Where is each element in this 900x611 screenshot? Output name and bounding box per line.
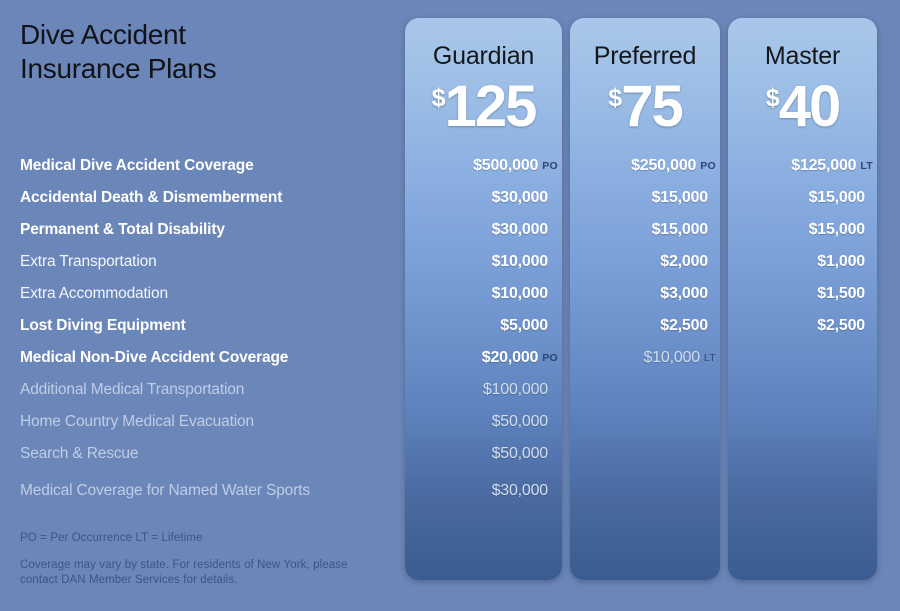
benefit-value-suffix: LT (704, 352, 716, 364)
footnote-legend: PO = Per Occurrence LT = Lifetime (20, 532, 202, 544)
benefit-label: Extra Accommodation (0, 285, 405, 303)
benefit-value: $2,500 (728, 317, 877, 335)
benefit-label: Lost Diving Equipment (0, 317, 405, 335)
benefit-value-amount: $15,000 (652, 189, 708, 206)
benefit-value-amount: $30,000 (492, 221, 548, 238)
plan-name-guardian: Guardian (405, 42, 562, 71)
benefit-value-amount: $2,000 (660, 253, 708, 270)
benefit-value-amount: $2,500 (660, 317, 708, 334)
benefit-value-suffix: PO (542, 352, 558, 364)
table-row: Accidental Death & Dismemberment$30,000$… (0, 182, 900, 214)
benefit-value-amount: $50,000 (492, 413, 548, 430)
page-title-line-1: Dive Accident (20, 18, 390, 52)
benefit-value: $30,000 (405, 189, 562, 207)
benefit-value: $30,000 (405, 221, 562, 239)
benefit-value: $15,000 (570, 189, 720, 207)
benefit-value: $250,000PO (570, 157, 720, 175)
benefit-value-suffix: PO (542, 160, 558, 172)
price-amount: 40 (779, 74, 840, 139)
footnote-disclaimer: Coverage may vary by state. For resident… (20, 558, 360, 588)
benefit-value: $15,000 (570, 221, 720, 239)
benefit-value-amount: $15,000 (652, 221, 708, 238)
benefit-value-amount: $10,000 (492, 253, 548, 270)
benefit-value: $15,000 (728, 221, 877, 239)
table-row: Extra Transportation$10,000$2,000$1,000 (0, 246, 900, 278)
benefit-value-amount: $3,000 (660, 285, 708, 302)
benefit-label: Medical Coverage for Named Water Sports (0, 482, 405, 500)
benefit-label: Search & Rescue (0, 445, 405, 463)
benefit-value: $10,000LT (570, 349, 720, 367)
benefit-value: $1,000 (728, 253, 877, 271)
benefit-value: $500,000PO (405, 157, 562, 175)
benefit-value: $2,000 (570, 253, 720, 271)
benefit-value: $20,000PO (405, 349, 562, 367)
benefit-value-amount: $10,000 (492, 285, 548, 302)
price-currency-symbol: $ (432, 84, 445, 112)
benefit-value: $50,000 (405, 413, 562, 431)
price-currency-symbol: $ (608, 84, 621, 112)
benefit-value-amount: $30,000 (492, 482, 548, 499)
page-title-line-2: Insurance Plans (20, 52, 390, 86)
benefit-label: Additional Medical Transportation (0, 381, 405, 399)
table-row: Medical Coverage for Named Water Sports$… (0, 470, 900, 512)
plan-name-master: Master (728, 42, 877, 71)
benefit-label: Medical Non-Dive Accident Coverage (0, 349, 405, 367)
benefit-grid: Medical Dive Accident Coverage$500,000PO… (0, 150, 900, 512)
table-row: Lost Diving Equipment$5,000$2,500$2,500 (0, 310, 900, 342)
table-row: Medical Dive Accident Coverage$500,000PO… (0, 150, 900, 182)
benefit-value: $125,000LT (728, 157, 877, 175)
plan-price-master: $40 (728, 78, 877, 136)
benefit-value: $50,000 (405, 445, 562, 463)
plan-price-guardian: $125 (405, 78, 562, 136)
table-row: Home Country Medical Evacuation$50,000 (0, 406, 900, 438)
benefit-value-amount: $125,000 (791, 157, 856, 174)
benefit-value: $1,500 (728, 285, 877, 303)
benefit-value-amount: $2,500 (817, 317, 865, 334)
benefit-value: $10,000 (405, 285, 562, 303)
plan-name-preferred: Preferred (570, 42, 720, 71)
price-amount: 75 (621, 74, 682, 139)
benefit-label: Permanent & Total Disability (0, 221, 405, 239)
benefit-value-amount: $15,000 (809, 221, 865, 238)
benefit-value-suffix: LT (860, 160, 873, 172)
benefit-label: Medical Dive Accident Coverage (0, 157, 405, 175)
benefit-value-amount: $1,000 (817, 253, 865, 270)
table-row: Extra Accommodation$10,000$3,000$1,500 (0, 278, 900, 310)
benefit-value-amount: $30,000 (492, 189, 548, 206)
benefit-value: $2,500 (570, 317, 720, 335)
table-row: Medical Non-Dive Accident Coverage$20,00… (0, 342, 900, 374)
benefit-value-suffix: PO (700, 160, 716, 172)
benefit-value: $30,000 (405, 482, 562, 500)
table-row: Search & Rescue$50,000 (0, 438, 900, 470)
table-row: Permanent & Total Disability$30,000$15,0… (0, 214, 900, 246)
benefit-value-amount: $500,000 (473, 157, 538, 174)
price-amount: 125 (445, 74, 536, 139)
benefit-value-amount: $15,000 (809, 189, 865, 206)
plan-price-preferred: $75 (570, 78, 720, 136)
benefit-value-amount: $250,000 (631, 157, 696, 174)
table-row: Additional Medical Transportation$100,00… (0, 374, 900, 406)
benefit-value: $15,000 (728, 189, 877, 207)
price-currency-symbol: $ (766, 84, 779, 112)
benefit-value-amount: $50,000 (492, 445, 548, 462)
page-title: Dive Accident Insurance Plans (20, 18, 390, 86)
benefit-label: Extra Transportation (0, 253, 405, 271)
benefit-value-amount: $20,000 (482, 349, 538, 366)
benefit-label: Accidental Death & Dismemberment (0, 189, 405, 207)
benefit-value-amount: $10,000 (643, 349, 699, 366)
benefit-value: $5,000 (405, 317, 562, 335)
benefit-value-amount: $5,000 (500, 317, 548, 334)
benefit-label: Home Country Medical Evacuation (0, 413, 405, 431)
benefit-value-amount: $100,000 (483, 381, 548, 398)
benefit-value: $10,000 (405, 253, 562, 271)
benefit-value-amount: $1,500 (817, 285, 865, 302)
benefit-value: $100,000 (405, 381, 562, 399)
benefit-value: $3,000 (570, 285, 720, 303)
